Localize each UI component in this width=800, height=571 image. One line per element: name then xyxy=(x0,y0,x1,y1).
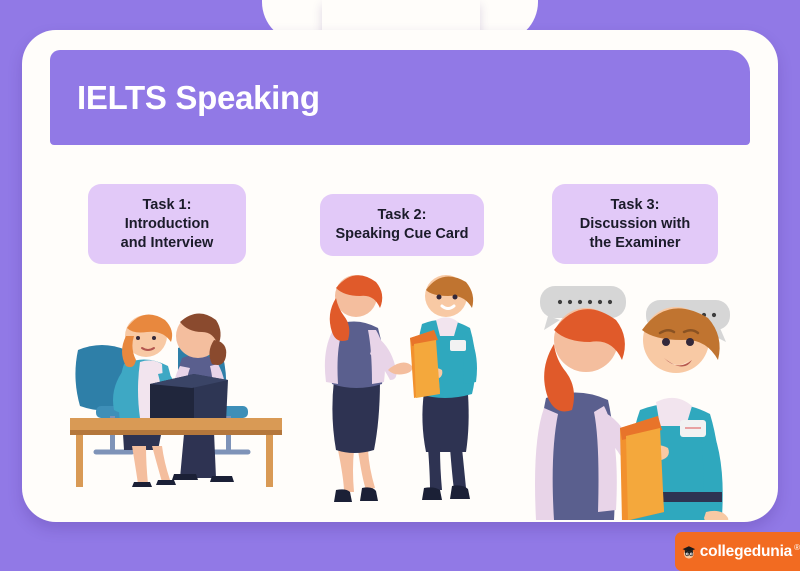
orange-folder-closeup-icon xyxy=(620,416,664,520)
task-3-label-chip: Task 3: Discussion with the Examiner xyxy=(552,184,718,264)
task-2-illustration xyxy=(310,262,505,512)
task-1-line-2: Introduction xyxy=(121,215,214,234)
person-student-back-icon xyxy=(325,275,412,502)
task-1-illustration xyxy=(70,288,285,488)
task-2-label-chip: Task 2: Speaking Cue Card xyxy=(320,194,484,256)
page-title: IELTS Speaking xyxy=(77,79,320,117)
task-3-illustration xyxy=(528,278,736,520)
task-3-line-3: the Examiner xyxy=(580,234,690,253)
collegedunia-logo-text: collegedunia xyxy=(700,543,792,561)
infographic-canvas: IELTS Speaking Task 1: Introduction and … xyxy=(0,0,800,571)
task-2-line-1: Task 2: xyxy=(336,206,469,225)
task-2-line-2: Speaking Cue Card xyxy=(336,225,469,244)
task-1-line-3: and Interview xyxy=(121,234,214,253)
header-banner: IELTS Speaking xyxy=(50,50,750,145)
task-3-line-1: Task 3: xyxy=(580,196,690,215)
task-1-line-1: Task 1: xyxy=(121,196,214,215)
task-3-line-2: Discussion with xyxy=(580,215,690,234)
collegedunia-logo-badge[interactable]: collegedunia ® xyxy=(675,532,800,571)
orange-folder-icon xyxy=(410,330,440,398)
task-1-label-chip: Task 1: Introduction and Interview xyxy=(88,184,246,264)
graduation-cap-mascot-icon xyxy=(682,539,696,565)
registered-trademark-symbol: ® xyxy=(794,543,800,552)
